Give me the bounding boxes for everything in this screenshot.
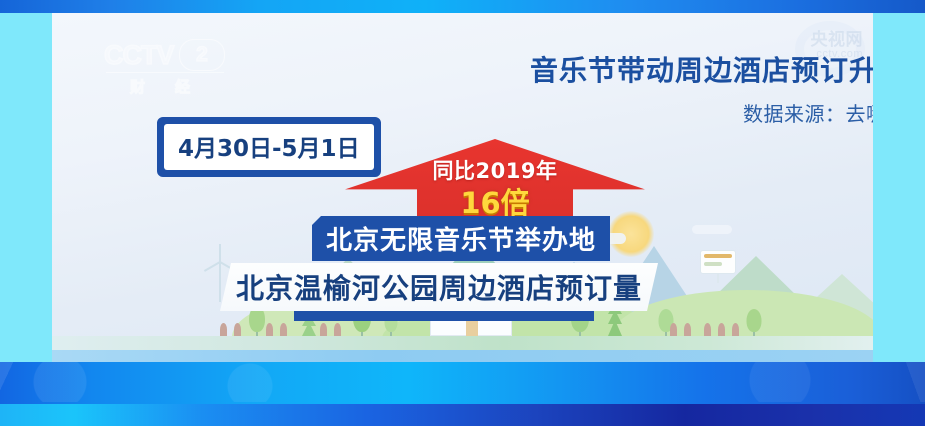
shrub-icon [718,323,725,336]
shrub-icon [732,323,739,336]
cctv-channel-number: 2 [179,39,225,71]
metric-banner-tab [294,311,594,321]
venue-banner-label: 北京无限音乐节举办地 [326,220,596,257]
river-strip [52,350,873,362]
shrub-icon [670,323,677,336]
frame-top-band [0,0,925,13]
metric-banner: 北京温榆河公园周边酒店预订量 [220,263,658,311]
cctv-sub-label: 财 经 [130,76,234,97]
cctv-wordmark: CCTV [104,40,174,71]
infographic-card: 央视网 cctv.com CCTV 2 财 经 音乐节带动周边酒店预订升温 数据… [52,13,873,362]
venue-banner: 北京无限音乐节举办地 [312,216,610,261]
shrub-icon [704,323,711,336]
shrub-icon [320,323,327,336]
frame-bottom-band [0,362,925,426]
cctv-wordmark-row: CCTV 2 [104,39,234,71]
cctv-2-logo: CCTV 2 财 经 [104,39,234,101]
broadcast-screen: 央视网 cctv.com CCTV 2 财 经 音乐节带动周边酒店预订升温 数据… [0,0,925,426]
cctv-underline [106,72,224,73]
cctv-sub-label-1: 财 [130,76,149,97]
frame-right-band [873,13,925,362]
signboard-icon [700,250,736,274]
date-range-label: 4月30日-5月1日 [164,124,374,170]
shrub-icon [266,323,273,336]
metric-banner-label: 北京温榆河公园周边酒店预订量 [236,267,642,307]
frame-left-band [0,13,52,362]
data-source-label: 数据来源：去哪儿 [377,98,873,127]
shrub-icon [234,323,241,336]
tree-icon [746,306,762,336]
shrub-icon [220,323,227,336]
cctv-sub-label-2: 经 [175,76,194,97]
shrub-icon [334,323,341,336]
shrub-icon [280,323,287,336]
shrub-icon [684,323,691,336]
page-title: 音乐节带动周边酒店预订升温 [377,49,873,89]
cloud-shape [692,225,732,234]
growth-value: 16倍 [345,180,645,222]
